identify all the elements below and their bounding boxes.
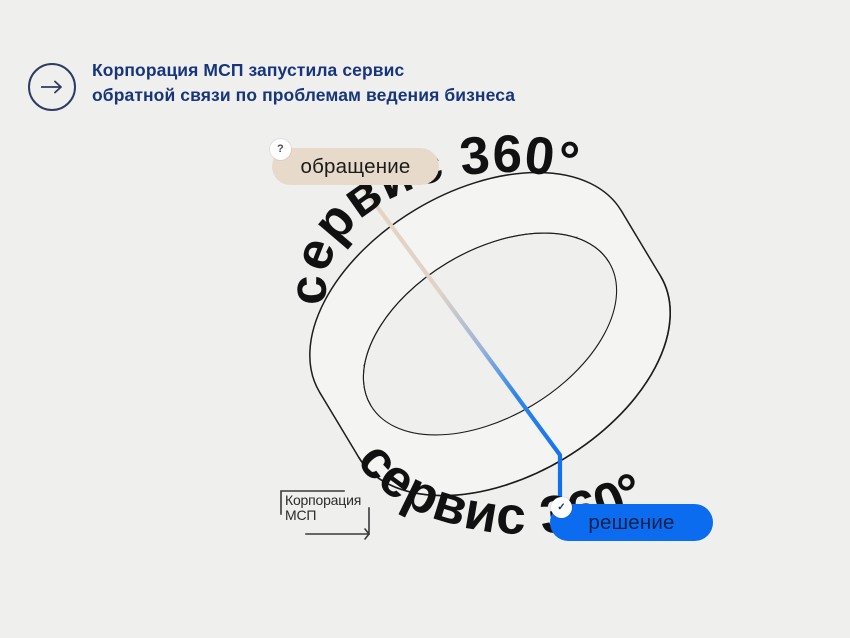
poster-canvas: сервис 360° сервис 360° Корпорация МСП з… (0, 0, 850, 638)
badge-appeal-label: обращение (301, 155, 411, 179)
check-mark-glyph: ✓ (557, 503, 566, 513)
headline-line-1: Корпорация МСП запустила сервис (92, 58, 515, 83)
question-mark-icon: ? (270, 139, 291, 160)
badge-appeal[interactable]: ? обращение (272, 148, 439, 185)
page-header: Корпорация МСП запустила сервис обратной… (28, 58, 515, 111)
logo-line-2: МСП (285, 507, 316, 523)
corporation-msp-logo: КорпорацияМСП (272, 484, 378, 542)
question-mark-glyph: ? (277, 144, 284, 155)
page-title: Корпорация МСП запустила сервис обратной… (92, 58, 515, 108)
logo-line-1: Корпорация (285, 492, 361, 508)
headline-line-2: обратной связи по проблемам ведения бизн… (92, 83, 515, 108)
badge-solution[interactable]: ✓ решение (550, 504, 713, 541)
badge-solution-label: решение (588, 511, 674, 535)
arrow-right-circle-icon (28, 63, 76, 111)
logo-text: КорпорацияМСП (285, 493, 361, 522)
check-mark-icon: ✓ (551, 497, 572, 518)
